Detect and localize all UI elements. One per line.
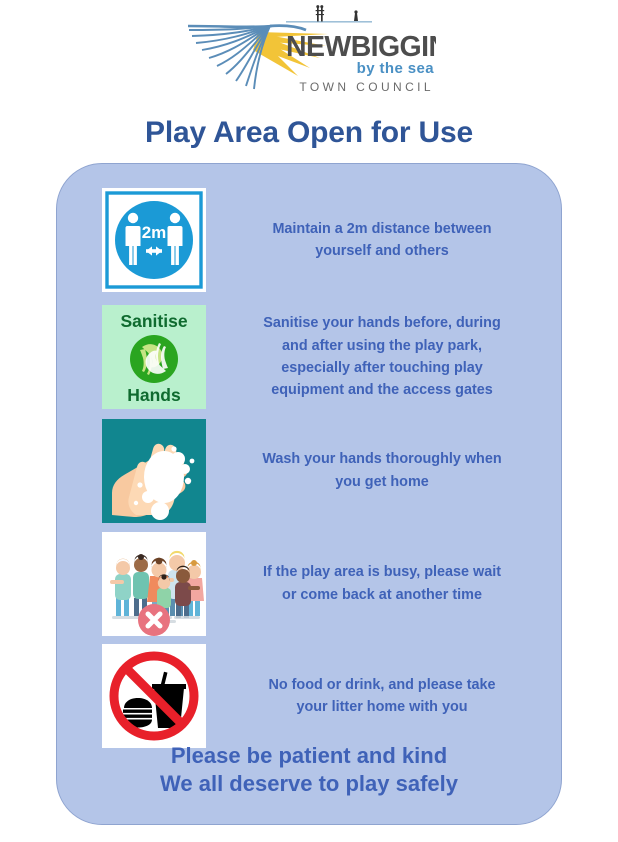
logo-name: NEWBIGGIN <box>286 31 436 63</box>
rule-text-wash: Wash your hands thoroughly when you get … <box>207 448 561 493</box>
rule-text-line: No food or drink, and please take <box>219 674 545 696</box>
page-title: Play Area Open for Use <box>0 116 618 149</box>
rule-row-distance: 2m Maintain a 2m distance between yourse… <box>57 180 561 300</box>
sanitise-subtitle: Hands <box>127 385 181 405</box>
crowded-play-area-icon <box>102 532 206 636</box>
rule-text-line: Maintain a 2m distance between <box>219 218 545 240</box>
rule-row-sanitise: Sanitise Hands <box>57 300 561 414</box>
footer-message: Please be patient and kind We all deserv… <box>57 742 561 798</box>
rule-text-line: yourself and others <box>219 240 545 262</box>
rule-icon-cell: Sanitise Hands <box>101 305 207 409</box>
rule-text-line: equipment and the access gates <box>219 379 545 401</box>
rule-text-line: or come back at another time <box>219 584 545 606</box>
rule-text-distance: Maintain a 2m distance between yourself … <box>207 218 561 263</box>
logo-subtitle: TOWN COUNCIL <box>299 80 434 94</box>
rule-icon-cell <box>101 532 207 636</box>
rule-text-sanitise: Sanitise your hands before, during and a… <box>207 312 561 401</box>
rule-text-line: Sanitise your hands before, during <box>219 312 545 334</box>
guidance-panel: 2m Maintain a 2m distance between yourse… <box>56 163 562 825</box>
sanitise-title: Sanitise <box>120 311 187 331</box>
rule-text-line: especially after touching play <box>219 357 545 379</box>
sanitise-hands-icon: Sanitise Hands <box>102 305 206 409</box>
logo-header: NEWBIGGIN by the sea TOWN COUNCIL <box>0 0 618 108</box>
rule-text-line: Wash your hands thoroughly when <box>219 448 545 470</box>
rule-text-line: If the play area is busy, please wait <box>219 561 545 583</box>
rule-text-line: your litter home with you <box>219 696 545 718</box>
rule-text-busy: If the play area is busy, please wait or… <box>207 561 561 606</box>
rule-row-busy: If the play area is busy, please wait or… <box>57 527 561 640</box>
social-distancing-2m-icon: 2m <box>102 188 206 292</box>
footer-line-2: We all deserve to play safely <box>57 770 561 798</box>
rule-row-nofood: No food or drink, and please take your l… <box>57 640 561 752</box>
rule-icon-cell: 2m <box>101 188 207 292</box>
logo-graphic: NEWBIGGIN by the sea TOWN COUNCIL <box>186 4 436 104</box>
rule-text-nofood: No food or drink, and please take your l… <box>207 674 561 719</box>
prohibited-badge-icon <box>138 604 170 636</box>
wash-hands-icon <box>102 419 206 523</box>
rule-icon-cell <box>101 419 207 523</box>
rule-text-line: you get home <box>219 471 545 493</box>
newbiggin-town-council-logo: NEWBIGGIN by the sea TOWN COUNCIL <box>186 4 436 104</box>
rule-icon-cell <box>101 644 207 748</box>
logo-tagline: by the sea <box>357 60 435 77</box>
rule-row-wash: Wash your hands thoroughly when you get … <box>57 414 561 527</box>
couple-sculpture-icon <box>286 5 372 23</box>
footer-line-1: Please be patient and kind <box>57 742 561 770</box>
distance-label: 2m <box>142 223 167 242</box>
rule-text-line: and after using the play park, <box>219 335 545 357</box>
no-food-or-drink-icon <box>102 644 206 748</box>
